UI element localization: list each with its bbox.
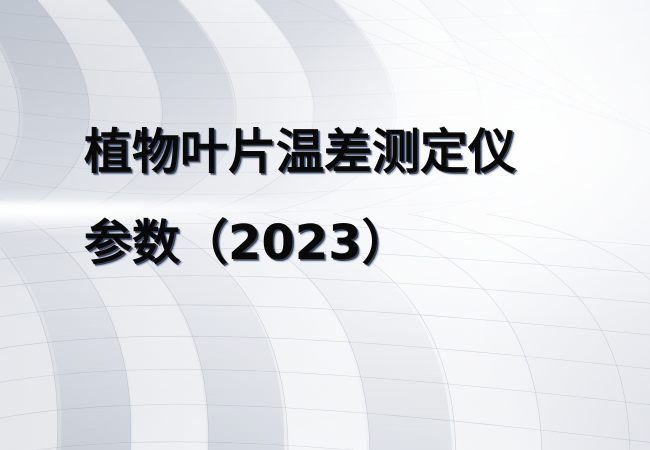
title-line-1: 植物叶片温差测定仪: [84, 122, 624, 183]
title-block: 植物叶片温差测定仪 参数（2023）: [84, 122, 624, 274]
title-line-2: 参数（2023）: [84, 213, 624, 274]
title-slide: 植物叶片温差测定仪 参数（2023）: [0, 0, 650, 450]
